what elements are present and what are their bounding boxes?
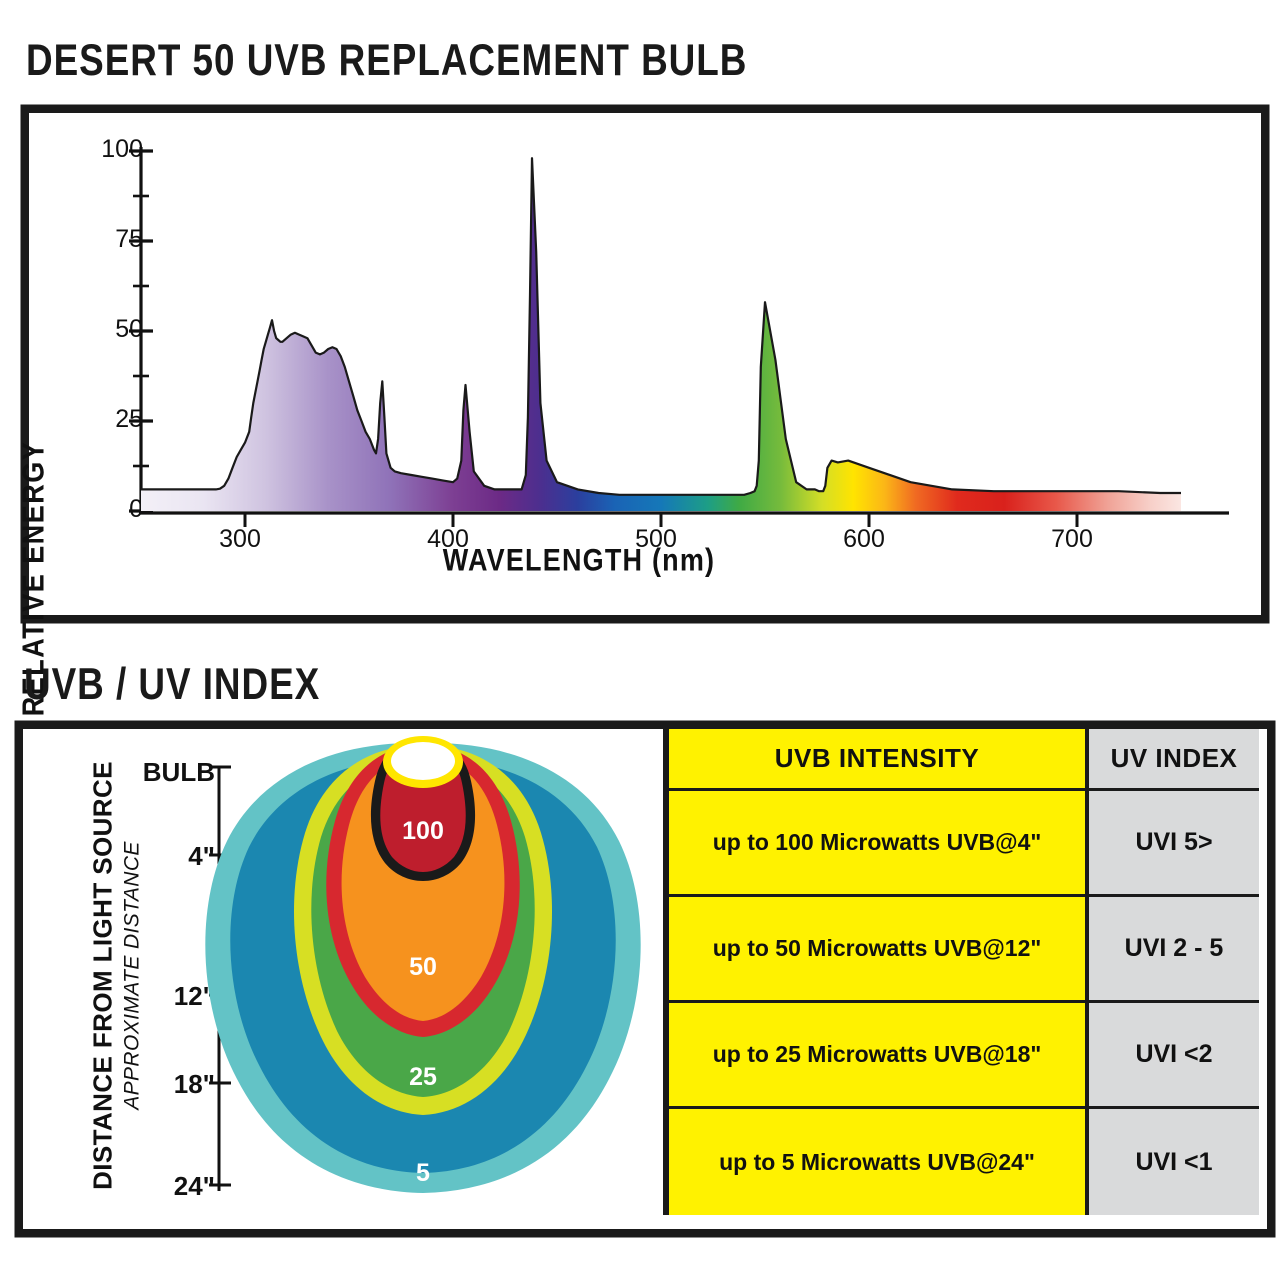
table-header-row: UVB INTENSITY UV INDEX xyxy=(669,729,1259,791)
zone-label-100: 100 xyxy=(402,817,444,845)
table-row: up to 25 Microwatts UVB@18" UVI <2 xyxy=(669,1003,1259,1109)
uvindex-panel: DISTANCE FROM LIGHT SOURCE APPROXIMATE D… xyxy=(16,722,1274,1236)
cell-intensity-4: up to 5 Microwatts UVB@24" xyxy=(669,1109,1089,1215)
cell-index-4: UVI <1 xyxy=(1089,1109,1259,1215)
zone-label-25: 25 xyxy=(409,1063,437,1091)
table-row: up to 50 Microwatts UVB@12" UVI 2 - 5 xyxy=(669,897,1259,1003)
uvindex-section-title: UVB / UV INDEX xyxy=(24,660,320,711)
page-title: DESERT 50 UVB REPLACEMENT BULB xyxy=(26,36,747,87)
table-row: up to 100 Microwatts UVB@4" UVI 5> xyxy=(669,791,1259,897)
cell-index-2: UVI 2 - 5 xyxy=(1089,897,1259,1003)
cell-intensity-2: up to 50 Microwatts UVB@12" xyxy=(669,897,1089,1003)
header-uvb-intensity: UVB INTENSITY xyxy=(669,729,1089,791)
uvb-index-table: UVB INTENSITY UV INDEX up to 100 Microwa… xyxy=(663,729,1259,1215)
uvb-cone-diagram: 100 50 25 5 xyxy=(23,729,683,1215)
cell-intensity-3: up to 25 Microwatts UVB@18" xyxy=(669,1003,1089,1109)
cell-index-3: UVI <2 xyxy=(1089,1003,1259,1109)
infographic-page: DESERT 50 UVB REPLACEMENT BULB RELATIVE … xyxy=(0,0,1280,1280)
header-uv-index: UV INDEX xyxy=(1089,729,1259,791)
zone-label-5: 5 xyxy=(416,1159,430,1187)
spectrum-chart-panel: RELATIVE ENERGY 100 75 50 25 0 300 400 5… xyxy=(22,106,1268,622)
spectrum-plot-area: RELATIVE ENERGY 100 75 50 25 0 300 400 5… xyxy=(29,113,1261,615)
spectrum-curve xyxy=(29,113,1247,601)
table-row: up to 5 Microwatts UVB@24" UVI <1 xyxy=(669,1109,1259,1215)
cell-index-1: UVI 5> xyxy=(1089,791,1259,897)
zone-label-50: 50 xyxy=(409,953,437,981)
bulb-glass xyxy=(391,742,455,780)
cell-intensity-1: up to 100 Microwatts UVB@4" xyxy=(669,791,1089,897)
